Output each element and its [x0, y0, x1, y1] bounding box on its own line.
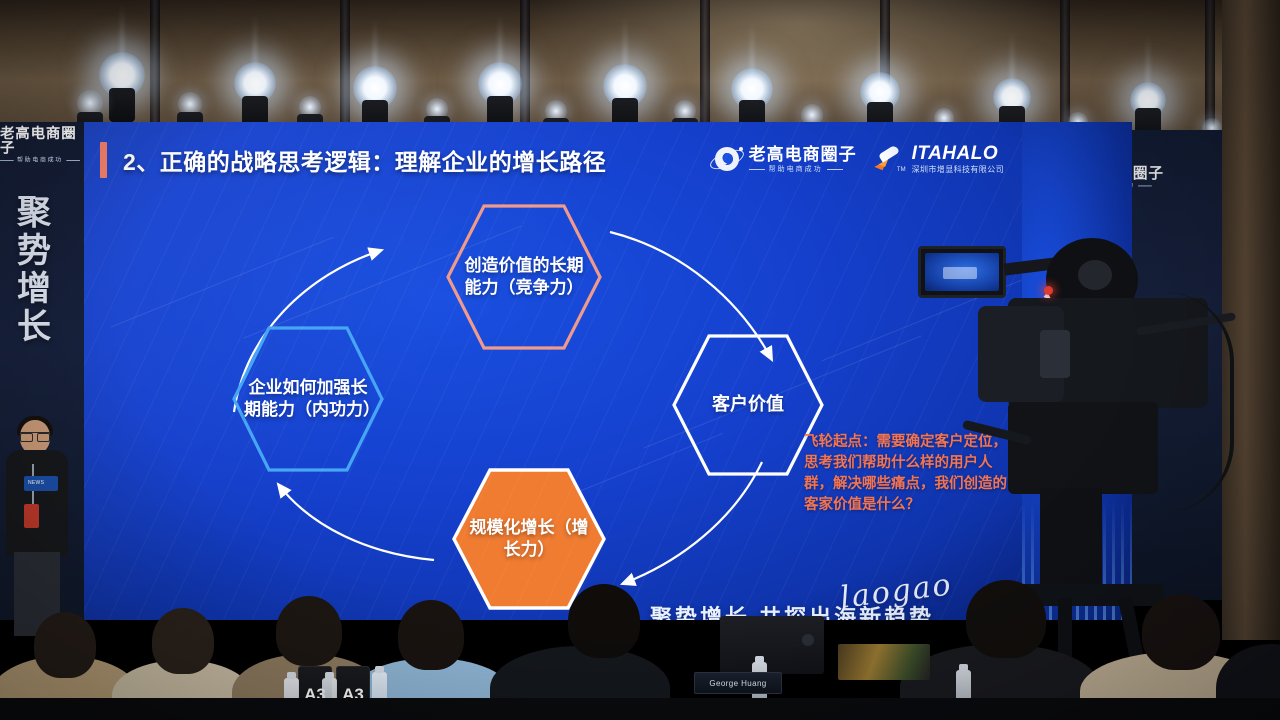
flywheel-node-customer-value[interactable]: 客户价值: [670, 332, 826, 478]
audience-foreground: A3 A3: [0, 560, 1280, 720]
laptop: [720, 616, 824, 674]
led-screen: 2、正确的战略思考逻辑：理解企业的增长路径 老高电商圈子 帮助电商成功 TM: [82, 122, 1022, 620]
presenter-torso: [6, 450, 68, 556]
partner-logo-name: ITAHALO: [912, 144, 1004, 163]
camera-flip-screen: [918, 246, 1006, 298]
banner-logo: 老高电商圈子 帮助电商成功: [0, 126, 83, 163]
rocket-icon: TM: [875, 146, 905, 172]
primary-logo: 老高电商圈子 帮助电商成功: [712, 144, 857, 174]
primary-logo-name: 老高电商圈子: [749, 146, 857, 163]
name-placard: George Huang: [694, 672, 782, 694]
camera-lens: [978, 306, 1064, 402]
planet-icon: [712, 144, 742, 174]
flywheel-node-label: 客户价值: [698, 393, 798, 417]
flywheel-node-label: 创造价值的长期能力（竞争力）: [444, 255, 604, 300]
flywheel-node-competitiveness[interactable]: 创造价值的长期能力（竞争力）: [444, 202, 604, 352]
name-placard-text: George Huang: [709, 679, 766, 688]
slide-title: 2、正确的战略思考逻辑：理解企业的增长路径: [123, 143, 606, 177]
camera-eyecup: [1078, 260, 1112, 290]
slide-title-bar: 2、正确的战略思考逻辑：理解企业的增长路径: [100, 142, 606, 178]
partner-logo: TM ITAHALO 深圳市增显科技有限公司: [875, 144, 1004, 174]
flywheel-node-internal-capability[interactable]: 企业如何加强长期能力（内功力）: [230, 324, 386, 474]
tripod-fluid-head: [1008, 402, 1158, 494]
audience-table: [0, 698, 1280, 720]
partner-logo-sub: 深圳市增显科技有限公司: [912, 166, 1004, 174]
glasses-icon: [20, 432, 50, 439]
banner-vertical-text: 聚 势 增 长: [6, 194, 62, 346]
flywheel-node-label: 规模化增长（增长力）: [450, 517, 608, 562]
presentation-photo: 老高电商圈子 帮助电商成功 海 2、正确的战略思考逻辑：理解企业的增长路径: [0, 0, 1280, 720]
small-display: [838, 644, 930, 680]
recording-indicator-icon: [1044, 286, 1053, 295]
title-accent-bar: [100, 142, 107, 178]
presenter-badge: [24, 504, 39, 528]
microphone: NEWS: [24, 476, 58, 491]
flywheel-node-label: 企业如何加强长期能力（内功力）: [230, 377, 386, 422]
banner-logo-tagline: 帮助电商成功: [0, 157, 82, 163]
arrow-bottom-to-left: [278, 484, 434, 560]
banner-logo-name: 老高电商圈子: [0, 126, 82, 155]
primary-logo-tagline: 帮助电商成功: [749, 166, 857, 173]
slide-logo-row: 老高电商圈子 帮助电商成功 TM ITAHALO 深圳市增显科技有限公司: [712, 144, 1004, 174]
